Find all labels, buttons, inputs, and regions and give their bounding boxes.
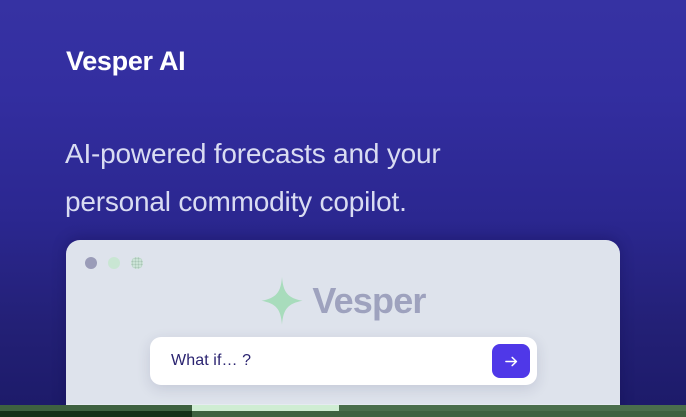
arrow-right-icon bbox=[503, 353, 520, 370]
hero-subtitle-line-1: AI-powered forecasts and your bbox=[65, 130, 585, 178]
prompt-input[interactable]: What if… ? bbox=[171, 352, 492, 370]
brand-wordmark: Vesper bbox=[312, 283, 425, 319]
bottom-band-highlight bbox=[192, 405, 339, 411]
page-title: Vesper AI bbox=[66, 45, 185, 77]
window-controls bbox=[85, 257, 143, 269]
window-dot-maximize-icon[interactable] bbox=[131, 257, 143, 269]
bottom-band-shadow bbox=[0, 411, 192, 417]
sparkle-icon bbox=[260, 276, 304, 326]
hero-subtitle: AI-powered forecasts and your personal c… bbox=[65, 130, 585, 226]
window-dot-close-icon[interactable] bbox=[85, 257, 97, 269]
promo-slide: Vesper AI AI-powered forecasts and your … bbox=[0, 0, 686, 417]
app-window-mock: Vesper What if… ? ······················… bbox=[66, 240, 620, 417]
window-dot-minimize-icon[interactable] bbox=[108, 257, 120, 269]
brand-lockup: Vesper bbox=[66, 276, 620, 326]
bottom-band bbox=[0, 405, 686, 417]
prompt-input-container[interactable]: What if… ? bbox=[150, 337, 537, 385]
send-button[interactable] bbox=[492, 344, 530, 378]
bottom-band-mid bbox=[339, 405, 686, 411]
hero-subtitle-line-2: personal commodity copilot. bbox=[65, 178, 585, 226]
